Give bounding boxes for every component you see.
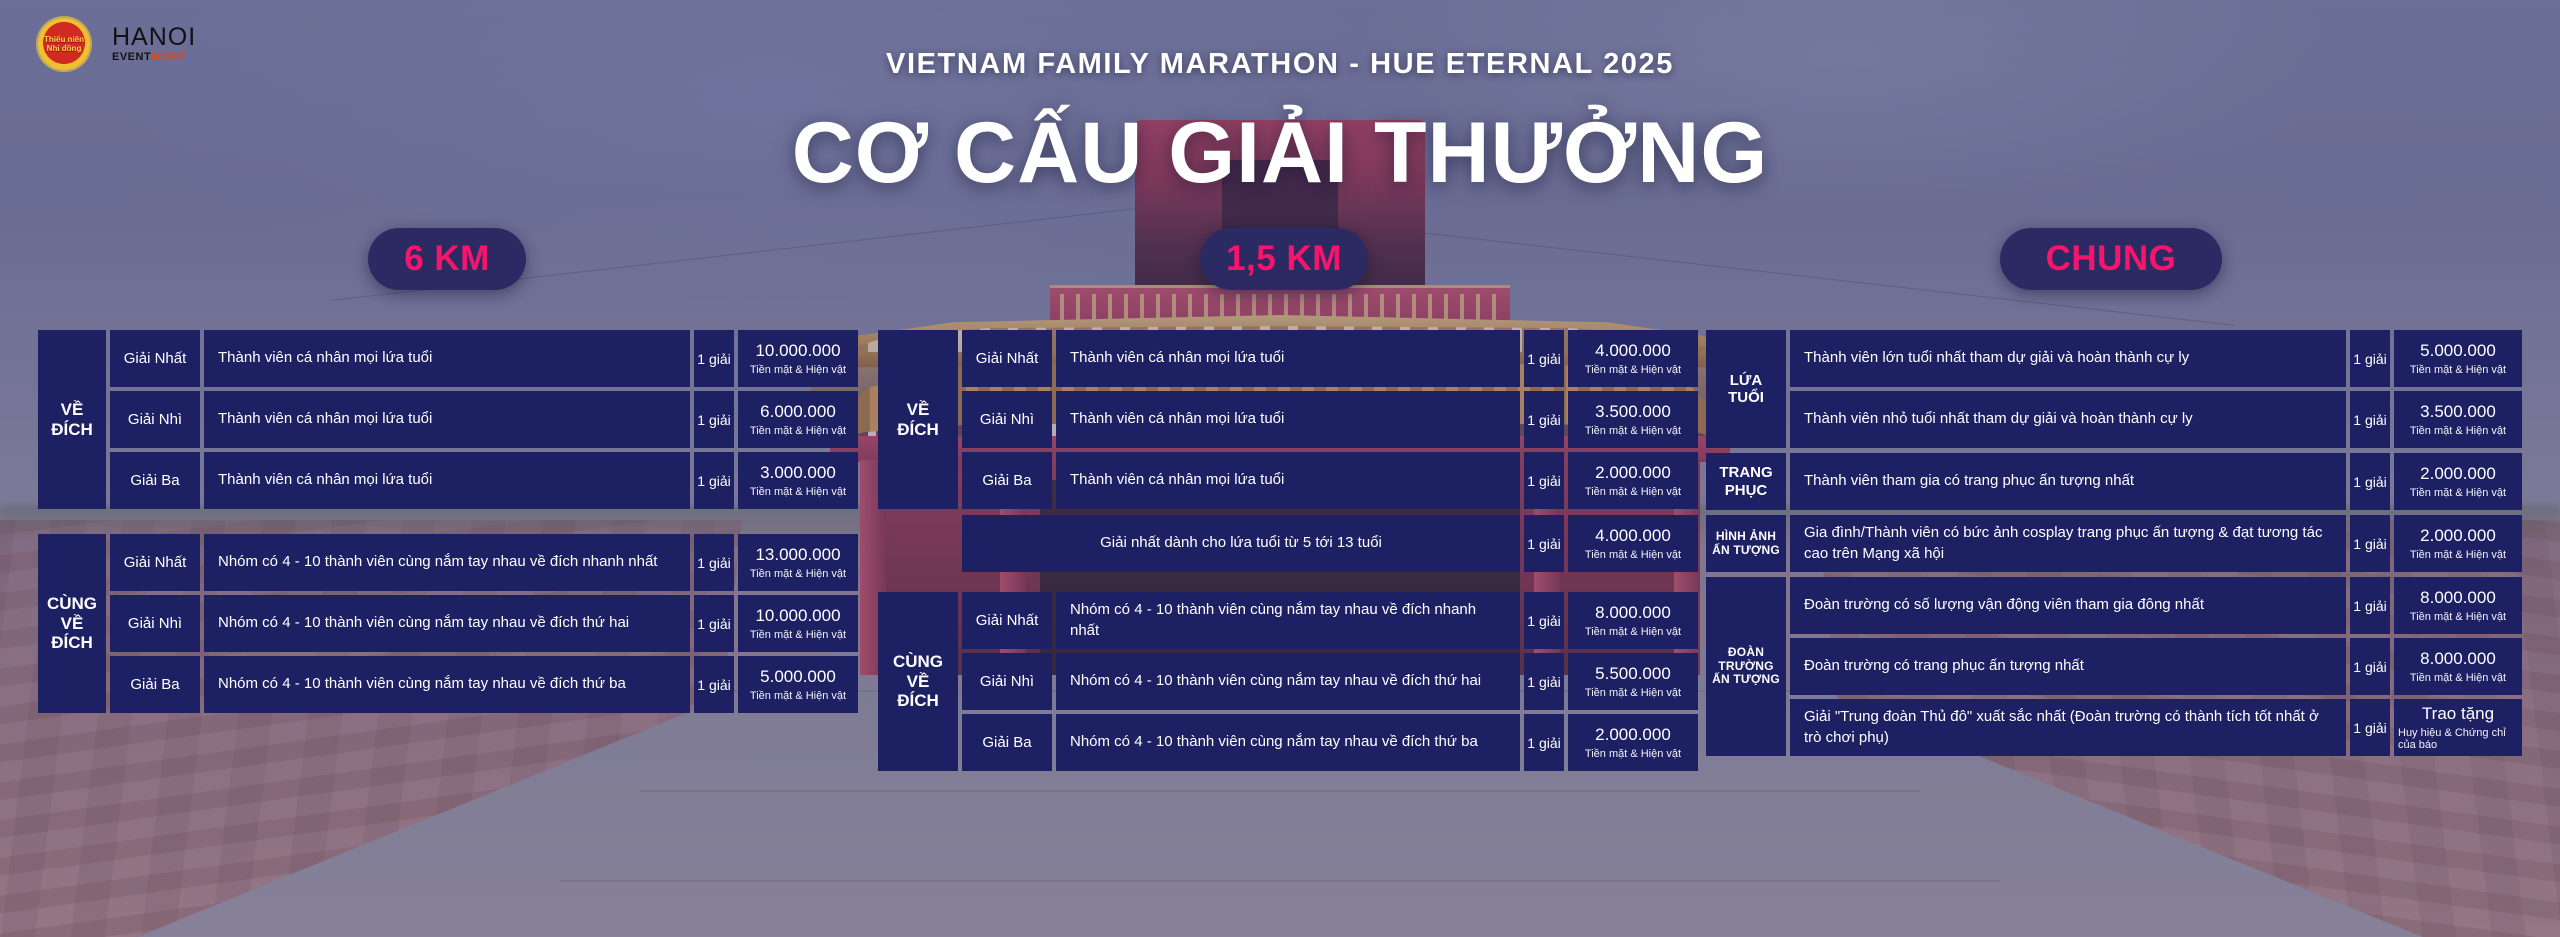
- table-row: Giải "Trung đoàn Thủ đô" xuất sắc nhất (…: [1790, 699, 2522, 756]
- cell-qty: 1 giải: [2350, 638, 2390, 695]
- group-label: VỀ ĐÍCH: [38, 330, 106, 509]
- prize-amount: 8.000.000: [1595, 603, 1671, 623]
- prize-note: Tiền mặt & Hiện vật: [2410, 425, 2506, 437]
- cell-desc: Thành viên cá nhân mọi lứa tuổi: [204, 330, 690, 387]
- table-row: Giải Ba Nhóm có 4 - 10 thành viên cùng n…: [110, 656, 858, 713]
- cell-prize: 6.000.000 Tiền mặt & Hiện vật: [738, 391, 858, 448]
- prize-group-doan-truong-an-tuong: ĐOÀN TRƯỜNG ẤN TƯỢNG Đoàn trường có số l…: [1706, 577, 2522, 756]
- table-row: Giải Nhất Thành viên cá nhân mọi lứa tuổ…: [962, 330, 1698, 387]
- cell-desc: Nhóm có 4 - 10 thành viên cùng nắm tay n…: [1056, 714, 1520, 771]
- cell-desc: Thành viên lớn tuổi nhất tham dự giải và…: [1790, 330, 2346, 387]
- table-row: Đoàn trường có trang phục ấn tượng nhất …: [1790, 638, 2522, 695]
- prize-amount: 2.000.000: [1595, 725, 1671, 745]
- prize-amount: 5.000.000: [2420, 341, 2496, 361]
- cell-rank: Giải Nhì: [962, 391, 1052, 448]
- prize-table-15km: VỀ ĐÍCH Giải Nhất Thành viên cá nhân mọi…: [878, 330, 1698, 777]
- prize-amount: 2.000.000: [2420, 526, 2496, 546]
- cell-prize: 8.000.000 Tiền mặt & Hiện vật: [2394, 577, 2522, 634]
- prize-note: Tiền mặt & Hiện vật: [750, 486, 846, 498]
- cell-desc: Thành viên tham gia có trang phục ấn tượ…: [1790, 453, 2346, 510]
- prize-amount: 8.000.000: [2420, 649, 2496, 669]
- table-row: Giải Ba Nhóm có 4 - 10 thành viên cùng n…: [962, 714, 1698, 771]
- cell-rank: Giải Ba: [962, 714, 1052, 771]
- cell-desc: Thành viên cá nhân mọi lứa tuổi: [1056, 452, 1520, 509]
- cell-prize: 10.000.000 Tiền mặt & Hiện vật: [738, 330, 858, 387]
- prize-amount: 3.500.000: [1595, 402, 1671, 422]
- table-row: Thành viên tham gia có trang phục ấn tượ…: [1790, 453, 2522, 510]
- cell-qty: 1 giải: [694, 595, 734, 652]
- prize-group-lua-tuoi: LỨA TUỔI Thành viên lớn tuổi nhất tham d…: [1706, 330, 2522, 448]
- cell-qty: 1 giải: [2350, 515, 2390, 572]
- table-row: Đoàn trường có số lượng vận động viên th…: [1790, 577, 2522, 634]
- cell-qty: 1 giải: [1524, 714, 1564, 771]
- prize-amount: 2.000.000: [1595, 463, 1671, 483]
- prize-group-cung-ve-dich: CÙNG VỀ ĐÍCH Giải Nhất Nhóm có 4 - 10 th…: [878, 592, 1698, 771]
- cell-rank: Giải Nhì: [110, 595, 200, 652]
- prize-note: Tiền mặt & Hiện vật: [2410, 487, 2506, 499]
- cell-qty: 1 giải: [2350, 391, 2390, 448]
- table-row-age-special: Giải nhất dành cho lứa tuổi từ 5 tới 13 …: [962, 515, 1698, 572]
- cell-desc: Nhóm có 4 - 10 thành viên cùng nắm tay n…: [204, 656, 690, 713]
- cell-qty: 1 giải: [2350, 453, 2390, 510]
- cell-rank: Giải Nhất: [962, 330, 1052, 387]
- prize-note: Tiền mặt & Hiện vật: [2410, 549, 2506, 561]
- cell-prize: 5.000.000 Tiền mặt & Hiện vật: [2394, 330, 2522, 387]
- prize-note: Tiền mặt & Hiện vật: [750, 425, 846, 437]
- cell-prize: 4.000.000 Tiền mặt & Hiện vật: [1568, 515, 1698, 572]
- prize-amount: 3.500.000: [2420, 402, 2496, 422]
- cell-qty: 1 giải: [1524, 515, 1564, 572]
- cell-prize: 8.000.000 Tiền mặt & Hiện vật: [1568, 592, 1698, 649]
- badge-6km: 6 KM: [368, 228, 526, 290]
- prize-amount: 6.000.000: [760, 402, 836, 422]
- cell-desc: Đoàn trường có số lượng vận động viên th…: [1790, 577, 2346, 634]
- cell-qty: 1 giải: [1524, 330, 1564, 387]
- cell-rank: Giải Nhất: [110, 534, 200, 591]
- cell-rank: Giải Nhất: [962, 592, 1052, 649]
- cell-desc: Thành viên cá nhân mọi lứa tuổi: [204, 452, 690, 509]
- cell-qty: 1 giải: [1524, 653, 1564, 710]
- prize-note: Tiền mặt & Hiện vật: [750, 568, 846, 580]
- cell-prize: 13.000.000 Tiền mặt & Hiện vật: [738, 534, 858, 591]
- cell-desc: Giải "Trung đoàn Thủ đô" xuất sắc nhất (…: [1790, 699, 2346, 756]
- prize-note: Tiền mặt & Hiện vật: [1585, 748, 1681, 760]
- cell-qty: 1 giải: [2350, 699, 2390, 756]
- cell-prize: 2.000.000 Tiền mặt & Hiện vật: [1568, 714, 1698, 771]
- prize-note: Tiền mặt & Hiện vật: [1585, 425, 1681, 437]
- prize-amount: 4.000.000: [1595, 341, 1671, 361]
- prize-amount: 2.000.000: [2420, 464, 2496, 484]
- prize-amount: 5.500.000: [1595, 664, 1671, 684]
- group-label: VỀ ĐÍCH: [878, 330, 958, 509]
- prize-note: Tiền mặt & Hiện vật: [750, 690, 846, 702]
- prize-note: Tiền mặt & Hiện vật: [2410, 364, 2506, 376]
- cell-qty: 1 giải: [694, 656, 734, 713]
- table-row: Thành viên nhỏ tuổi nhất tham dự giải và…: [1790, 391, 2522, 448]
- cell-rank: Giải Ba: [962, 452, 1052, 509]
- table-row: Giải Nhất Nhóm có 4 - 10 thành viên cùng…: [962, 592, 1698, 649]
- cell-rank: Giải Nhất: [110, 330, 200, 387]
- badge-chung: CHUNG: [2000, 228, 2222, 290]
- cell-prize: 5.000.000 Tiền mặt & Hiện vật: [738, 656, 858, 713]
- cell-qty: 1 giải: [694, 452, 734, 509]
- cell-desc: Gia đình/Thành viên có bức ảnh cosplay t…: [1790, 515, 2346, 572]
- cell-prize: 2.000.000 Tiền mặt & Hiện vật: [2394, 453, 2522, 510]
- prize-amount: 5.000.000: [760, 667, 836, 687]
- cell-prize: 3.500.000 Tiền mặt & Hiện vật: [2394, 391, 2522, 448]
- cell-prize: 5.500.000 Tiền mặt & Hiện vật: [1568, 653, 1698, 710]
- prize-group-ve-dich: VỀ ĐÍCH Giải Nhất Thành viên cá nhân mọi…: [38, 330, 858, 509]
- cell-prize: 10.000.000 Tiền mặt & Hiện vật: [738, 595, 858, 652]
- prize-amount: 8.000.000: [2420, 588, 2496, 608]
- prize-table-chung: LỨA TUỔI Thành viên lớn tuổi nhất tham d…: [1706, 330, 2522, 761]
- table-row: Giải Nhì Thành viên cá nhân mọi lứa tuổi…: [110, 391, 858, 448]
- prize-note: Tiền mặt & Hiện vật: [1585, 549, 1681, 561]
- cell-rank: Giải Nhì: [110, 391, 200, 448]
- page-title: CƠ CẤU GIẢI THƯỞNG: [0, 110, 2560, 196]
- prize-note: Tiền mặt & Hiện vật: [1585, 626, 1681, 638]
- prize-table-6km: VỀ ĐÍCH Giải Nhất Thành viên cá nhân mọi…: [38, 330, 858, 719]
- prize-note: Huy hiệu & Chứng chỉ của báo: [2398, 727, 2518, 751]
- cell-prize: 8.000.000 Tiền mặt & Hiện vật: [2394, 638, 2522, 695]
- group-label: LỨA TUỔI: [1706, 330, 1786, 448]
- cell-qty: 1 giải: [1524, 391, 1564, 448]
- prize-note: Tiền mặt & Hiện vật: [2410, 611, 2506, 623]
- cell-prize: 3.000.000 Tiền mặt & Hiện vật: [738, 452, 858, 509]
- prize-note: Tiền mặt & Hiện vật: [1585, 687, 1681, 699]
- cell-desc: Nhóm có 4 - 10 thành viên cùng nắm tay n…: [204, 534, 690, 591]
- cell-prize: 2.000.000 Tiền mặt & Hiện vật: [1568, 452, 1698, 509]
- cell-qty: 1 giải: [1524, 452, 1564, 509]
- cell-qty: 1 giải: [694, 391, 734, 448]
- cell-qty: 1 giải: [694, 330, 734, 387]
- cell-prize: 3.500.000 Tiền mặt & Hiện vật: [1568, 391, 1698, 448]
- cell-desc: Thành viên cá nhân mọi lứa tuổi: [1056, 391, 1520, 448]
- prize-note: Tiền mặt & Hiện vật: [1585, 364, 1681, 376]
- table-row: Giải Nhất Nhóm có 4 - 10 thành viên cùng…: [110, 534, 858, 591]
- prize-amount: 4.000.000: [1595, 526, 1671, 546]
- prize-group-hinh-anh-an-tuong: HÌNH ẢNH ẤN TƯỢNG Gia đình/Thành viên có…: [1706, 515, 2522, 572]
- group-label: TRANG PHỤC: [1706, 453, 1786, 510]
- table-row: Giải Ba Thành viên cá nhân mọi lứa tuổi …: [962, 452, 1698, 509]
- table-row: Thành viên lớn tuổi nhất tham dự giải và…: [1790, 330, 2522, 387]
- table-row: Giải Ba Thành viên cá nhân mọi lứa tuổi …: [110, 452, 858, 509]
- cell-desc: Nhóm có 4 - 10 thành viên cùng nắm tay n…: [204, 595, 690, 652]
- cell-prize: 4.000.000 Tiền mặt & Hiện vật: [1568, 330, 1698, 387]
- prize-group-ve-dich: VỀ ĐÍCH Giải Nhất Thành viên cá nhân mọi…: [878, 330, 1698, 509]
- cell-rank: Giải Ba: [110, 452, 200, 509]
- prize-note: Tiền mặt & Hiện vật: [1585, 486, 1681, 498]
- cell-qty: 1 giải: [2350, 330, 2390, 387]
- prize-note: Tiền mặt & Hiện vật: [2410, 672, 2506, 684]
- cell-qty: 1 giải: [694, 534, 734, 591]
- cell-qty: 1 giải: [1524, 592, 1564, 649]
- prize-amount: 13.000.000: [755, 545, 840, 565]
- group-label: CÙNG VỀ ĐÍCH: [38, 534, 106, 713]
- table-row: Giải Nhì Nhóm có 4 - 10 thành viên cùng …: [962, 653, 1698, 710]
- cell-prize: Trao tặng Huy hiệu & Chứng chỉ của báo: [2394, 699, 2522, 756]
- table-row: Giải Nhì Nhóm có 4 - 10 thành viên cùng …: [110, 595, 858, 652]
- prize-note: Tiền mặt & Hiện vật: [750, 364, 846, 376]
- logo-hanoi-wordmark: HANOI: [112, 25, 196, 50]
- cell-desc: Đoàn trường có trang phục ấn tượng nhất: [1790, 638, 2346, 695]
- cell-desc: Nhóm có 4 - 10 thành viên cùng nắm tay n…: [1056, 592, 1520, 649]
- prize-group-cung-ve-dich: CÙNG VỀ ĐÍCH Giải Nhất Nhóm có 4 - 10 th…: [38, 534, 858, 713]
- cell-prize: 2.000.000 Tiền mặt & Hiện vật: [2394, 515, 2522, 572]
- group-label: HÌNH ẢNH ẤN TƯỢNG: [1706, 515, 1786, 572]
- group-label: CÙNG VỀ ĐÍCH: [878, 592, 958, 771]
- cell-qty: 1 giải: [2350, 577, 2390, 634]
- badge-15km: 1,5 KM: [1200, 228, 1368, 290]
- cell-rank: Giải Ba: [110, 656, 200, 713]
- prize-amount: 10.000.000: [755, 341, 840, 361]
- prize-amount: Trao tặng: [2422, 704, 2494, 724]
- prize-amount: 10.000.000: [755, 606, 840, 626]
- prize-amount: 3.000.000: [760, 463, 836, 483]
- cell-desc: Giải nhất dành cho lứa tuổi từ 5 tới 13 …: [962, 515, 1520, 572]
- prize-group-trang-phuc: TRANG PHỤC Thành viên tham gia có trang …: [1706, 453, 2522, 510]
- cell-desc: Thành viên nhỏ tuổi nhất tham dự giải và…: [1790, 391, 2346, 448]
- cell-desc: Thành viên cá nhân mọi lứa tuổi: [204, 391, 690, 448]
- table-row: Gia đình/Thành viên có bức ảnh cosplay t…: [1790, 515, 2522, 572]
- event-title: VIETNAM FAMILY MARATHON - HUE ETERNAL 20…: [0, 48, 2560, 81]
- cell-rank: Giải Nhì: [962, 653, 1052, 710]
- cell-desc: Nhóm có 4 - 10 thành viên cùng nắm tay n…: [1056, 653, 1520, 710]
- group-label: ĐOÀN TRƯỜNG ẤN TƯỢNG: [1706, 577, 1786, 756]
- table-row: Giải Nhì Thành viên cá nhân mọi lứa tuổi…: [962, 391, 1698, 448]
- table-row: Giải Nhất Thành viên cá nhân mọi lứa tuổ…: [110, 330, 858, 387]
- cell-desc: Thành viên cá nhân mọi lứa tuổi: [1056, 330, 1520, 387]
- prize-note: Tiền mặt & Hiện vật: [750, 629, 846, 641]
